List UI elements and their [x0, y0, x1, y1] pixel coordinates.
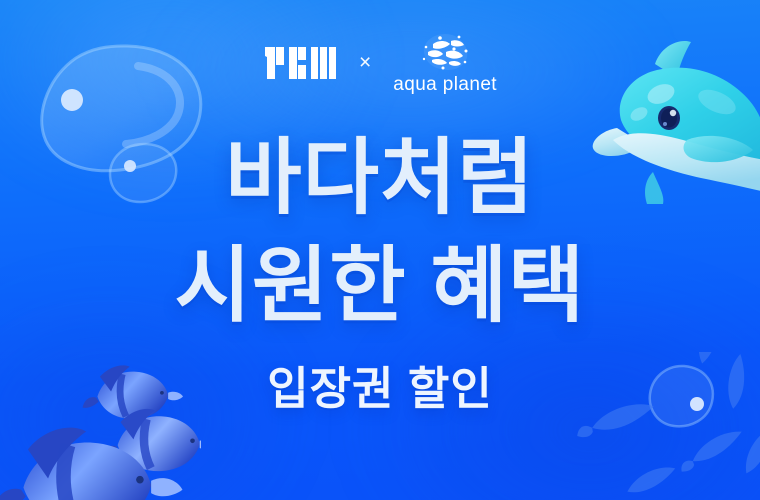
- aqua-planet-emblem-icon: [418, 32, 472, 72]
- ybm-logo: [263, 45, 337, 81]
- headline-line-1: 바다처럼: [0, 124, 760, 232]
- aqua-planet-wordmark: aqua planet: [393, 75, 497, 94]
- headline: 바다처럼 시원한 혜택: [0, 124, 760, 340]
- subheadline-text: 입장권 할인: [0, 362, 760, 416]
- aqua-planet-logo: aqua planet: [393, 32, 497, 94]
- headline-line-2: 시원한 혜택: [0, 232, 760, 340]
- cross-icon: ×: [359, 52, 371, 73]
- subheadline: 입장권 할인: [0, 362, 760, 416]
- logo-lockup: ×: [0, 32, 760, 94]
- promo-banner: ×: [0, 0, 760, 500]
